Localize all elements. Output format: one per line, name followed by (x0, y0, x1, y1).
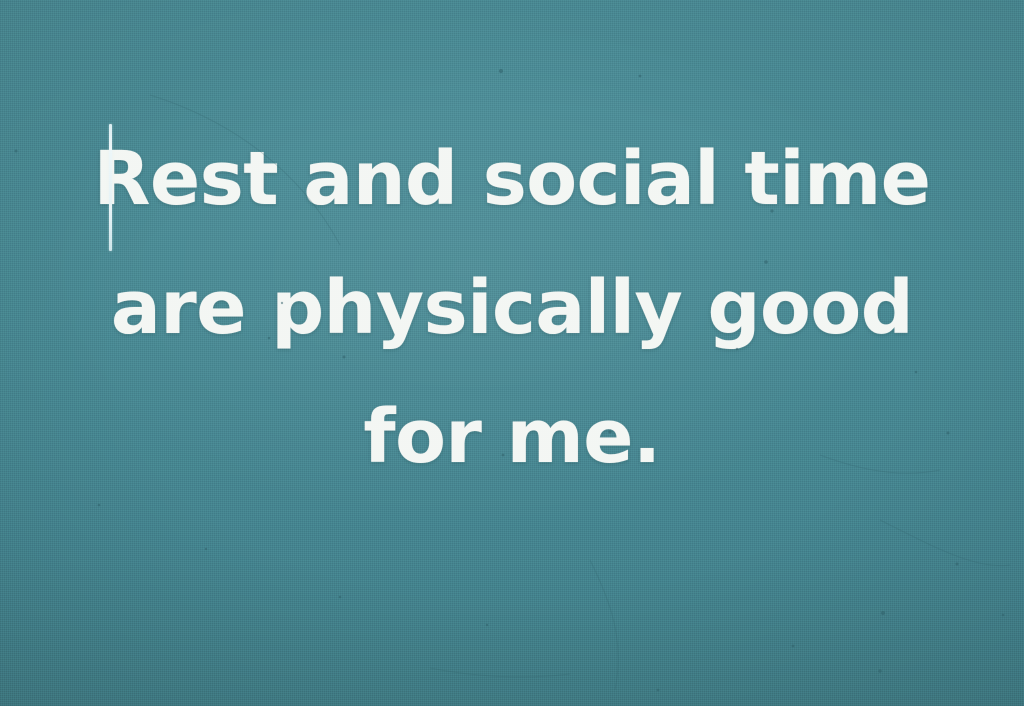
screen-canvas: Rest and social time are physically good… (0, 0, 1024, 706)
quote-line-3: for me. (0, 400, 1024, 474)
quote-line-2: are physically good (0, 271, 1024, 345)
slide-content: Rest and social time are physically good… (0, 0, 1024, 706)
text-cursor-caret[interactable] (109, 124, 112, 251)
quote-line-1: Rest and social time (0, 142, 1024, 216)
